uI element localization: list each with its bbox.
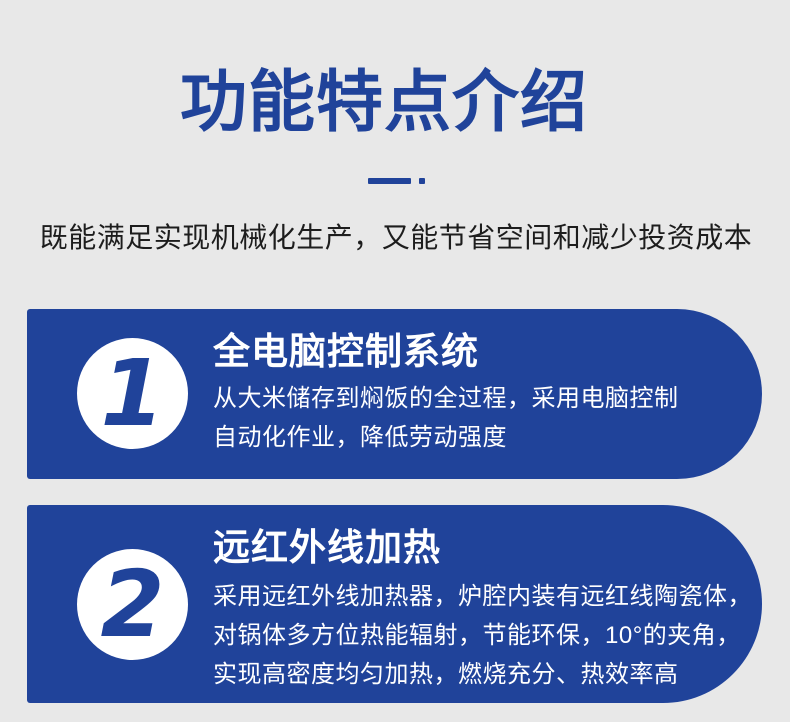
feature-heading-2: 远红外线加热	[213, 523, 744, 573]
feature-text-line: 从大米储存到焖饭的全过程，采用电脑控制	[213, 379, 744, 418]
feature-number-badge-2: 2	[77, 549, 188, 660]
feature-card-2: 2 远红外线加热 采用远红外线加热器，炉腔内装有远红线陶瓷体， 对锅体多方位热能…	[27, 505, 762, 703]
feature-number-2: 2	[77, 549, 188, 660]
feature-card-list: 1 全电脑控制系统 从大米储存到焖饭的全过程，采用电脑控制 自动化作业，降低劳动…	[0, 0, 790, 722]
feature-number-badge-1: 1	[77, 338, 188, 449]
feature-text-line: 采用远红外线加热器，炉腔内装有远红线陶瓷体，	[213, 577, 744, 616]
feature-card-1: 1 全电脑控制系统 从大米储存到焖饭的全过程，采用电脑控制 自动化作业，降低劳动…	[27, 309, 762, 479]
feature-text-line: 自动化作业，降低劳动强度	[213, 418, 744, 457]
feature-card-1-body: 全电脑控制系统 从大米储存到焖饭的全过程，采用电脑控制 自动化作业，降低劳动强度	[213, 327, 744, 457]
feature-card-2-body: 远红外线加热 采用远红外线加热器，炉腔内装有远红线陶瓷体， 对锅体多方位热能辐射…	[213, 523, 744, 694]
feature-number-1: 1	[77, 338, 188, 449]
feature-text-line: 实现高密度均匀加热，燃烧充分、热效率高	[213, 655, 744, 694]
feature-heading-1: 全电脑控制系统	[213, 327, 744, 377]
feature-text-line: 对锅体多方位热能辐射，节能环保，10°的夹角，	[213, 616, 744, 655]
